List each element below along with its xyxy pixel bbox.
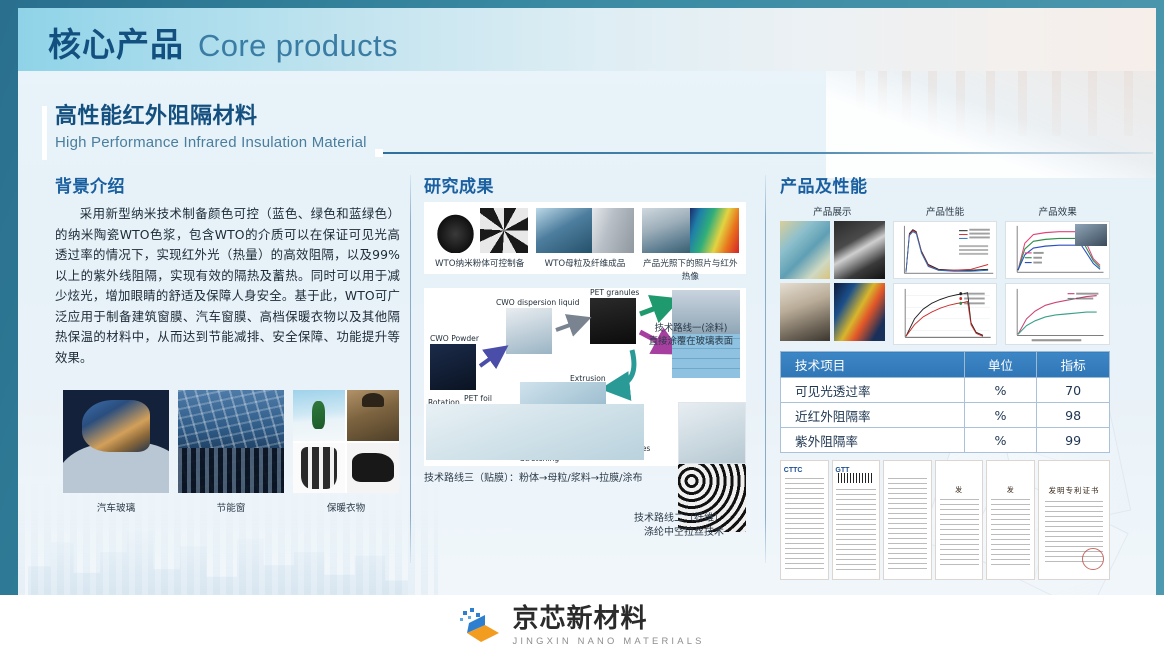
route-1-caption: 技术路线一(涂料) 直接涂覆在玻璃表面 <box>636 322 746 348</box>
product-head-showcase: 产品展示 <box>780 204 885 218</box>
performance-table-header-row: 技术项目 单位 指标 <box>781 352 1110 378</box>
research-caption-masterbatch: WTO母粒及纤维成品 <box>536 258 633 271</box>
section-accent-bar <box>42 106 47 160</box>
wto-nano-powder-photo <box>431 208 528 253</box>
flow-label-pet-foil: PET foil <box>464 394 492 403</box>
perf-row2-unit: % <box>964 428 1037 453</box>
product-showcase-group <box>780 221 885 345</box>
product-effect-temp-vs-time <box>1005 221 1110 279</box>
certificates-row: CTTC GTT 发 发 <box>780 460 1110 580</box>
header-title-group: 核心产品 Core products <box>48 18 398 66</box>
performance-header-item: 技术项目 <box>781 352 965 378</box>
official-seal-icon <box>1082 548 1104 570</box>
company-logo: 京芯新材料 JINGXIN NANO MATERIALS <box>459 606 704 645</box>
masterbatch-bags-photo <box>834 221 884 279</box>
logo-name-en: JINGXIN NANO MATERIALS <box>512 636 704 645</box>
research-caption-thermal: 产品光照下的照片与红外热像 <box>642 258 739 284</box>
section-rule <box>383 152 1153 154</box>
performance-table: 技术项目 单位 指标 可见光透过率 % 70 近红外阻隔率 % 98 <box>780 351 1110 453</box>
hollow-fiber-bag-photo <box>678 402 746 464</box>
perf-row2-value: 99 <box>1037 428 1110 453</box>
product-performance-temp-curve <box>893 221 998 279</box>
perf-row1-item: 近红外阻隔率 <box>781 403 965 428</box>
perf-row0-item: 可见光透过率 <box>781 378 965 403</box>
perf-row1-value: 98 <box>1037 403 1110 428</box>
patent-cert-3: 发明专利证书 <box>1038 460 1110 580</box>
product-performance-heat-curve <box>893 283 998 345</box>
column-research: 研究成果 WTO纳米粉体可控制备 WTO母粒及纤维成品 <box>424 172 754 204</box>
product-head-effect: 产品效果 <box>1005 204 1110 218</box>
cert-text-lines <box>785 478 824 570</box>
column-divider-left <box>410 175 411 563</box>
section-heading: 高性能红外阻隔材料 High Performance Infrared Insu… <box>55 103 367 153</box>
research-sample-masterbatch: WTO母粒及纤维成品 <box>536 208 633 284</box>
background-title: 背景介绍 <box>55 172 400 197</box>
route-2-caption: 技术路线二（纤维） 涤纶中空拉丝技术 <box>594 512 724 540</box>
application-caption-clothing: 保暖衣物 <box>293 502 399 515</box>
cert-text-lines <box>940 499 979 567</box>
table-row: 可见光透过率 % 70 <box>781 378 1110 403</box>
research-caption-powder: WTO纳米粉体可控制备 <box>431 258 528 271</box>
section-title-en: High Performance Infrared Insulation Mat… <box>55 133 367 153</box>
product-effect-group <box>1005 221 1110 345</box>
perf-row0-value: 70 <box>1037 378 1110 403</box>
cert-text-lines <box>991 499 1030 567</box>
research-sample-panel: WTO纳米粉体可控制备 WTO母粒及纤维成品 产品光照下的照片与红外热像 <box>424 202 746 274</box>
column-background: 背景介绍 采用新型纳米技术制备颜色可控（蓝色、绿色和蓝绿色）的纳米陶瓷WTO色浆… <box>55 172 400 368</box>
thermal-clothing-photo <box>293 390 399 493</box>
patent-title-2: 发 <box>987 485 1034 495</box>
table-row: 近红外阻隔率 % 98 <box>781 403 1110 428</box>
performance-header-unit: 单位 <box>964 352 1037 378</box>
column-divider-right <box>765 175 766 563</box>
header-title-cn: 核心产品 <box>48 18 184 66</box>
car-window-glass-photo <box>63 390 169 493</box>
application-item-clothing: 保暖衣物 <box>293 390 399 515</box>
test-report-cttc: CTTC <box>780 460 829 580</box>
product-title: 产品及性能 <box>780 172 1110 197</box>
header-title-en: Core products <box>198 28 398 64</box>
thermal-sleeve-demo-photo <box>780 283 830 341</box>
wto-masterbatch-fiber-photo <box>536 208 633 253</box>
research-sample-powder: WTO纳米粉体可控制备 <box>431 208 528 284</box>
slide-header: 核心产品 Core products <box>18 8 1156 71</box>
background-paragraph: 采用新型纳米技术制备颜色可控（蓝色、绿色和蓝绿色）的纳米陶瓷WTO色浆，包含WT… <box>55 204 400 368</box>
cttc-logo-label: CTTC <box>784 467 803 474</box>
product-media-grid <box>780 221 1110 345</box>
section-title-cn: 高性能红外阻隔材料 <box>55 103 367 131</box>
colored-film-samples-photo <box>780 221 830 279</box>
application-item-car: 汽车玻璃 <box>63 390 169 515</box>
barcode-icon <box>838 473 873 483</box>
test-report-gtt: GTT <box>832 460 881 580</box>
application-photo-row: 汽车玻璃 节能窗 保暖衣物 <box>63 390 399 515</box>
route-1-line1: 技术路线一(涂料) <box>636 322 746 335</box>
application-caption-window: 节能窗 <box>178 502 284 515</box>
winter-coat-photo <box>347 390 399 441</box>
table-row: 紫外阻隔率 % 99 <box>781 428 1110 453</box>
jingxin-logo-icon <box>459 607 503 645</box>
gloves-photo <box>347 443 399 494</box>
perf-row2-item: 紫外阻隔率 <box>781 428 965 453</box>
route-2-line2: 涤纶中空拉丝技术 <box>594 526 724 540</box>
product-ir-thermal-photo <box>642 208 739 253</box>
ir-camera-screen-photo <box>834 283 884 341</box>
film-stretching-illustration <box>426 404 644 460</box>
perf-row0-unit: % <box>964 378 1037 403</box>
slide-frame: 核心产品 Core products 高性能红外阻隔材料 High Perfor… <box>0 0 1164 657</box>
slide-footer: 京芯新材料 JINGXIN NANO MATERIALS <box>0 595 1164 657</box>
patent-cert-2: 发 <box>986 460 1035 580</box>
perf-row1-unit: % <box>964 403 1037 428</box>
research-title: 研究成果 <box>424 172 754 197</box>
leg-warmers-photo <box>293 443 345 494</box>
research-sample-thermal: 产品光照下的照片与红外热像 <box>642 208 739 284</box>
irradiation-time-curve <box>1005 283 1110 345</box>
product-column-heads: 产品展示 产品性能 产品效果 <box>780 204 1110 218</box>
route-2-line1: 技术路线二（纤维） <box>594 512 724 526</box>
test-report-3 <box>883 460 932 580</box>
application-item-window: 节能窗 <box>178 390 284 515</box>
cert-text-lines <box>836 489 875 569</box>
slide-root: 核心产品 Core products 高性能红外阻隔材料 High Perfor… <box>0 0 1164 657</box>
route-1-line2: 直接涂覆在玻璃表面 <box>636 335 746 348</box>
application-caption-car: 汽车玻璃 <box>63 502 169 515</box>
patent-title-3: 发明专利证书 <box>1039 485 1109 496</box>
product-performance-group <box>893 221 998 345</box>
cert-text-lines <box>888 478 927 570</box>
column-product: 产品及性能 产品展示 产品性能 产品效果 <box>780 172 1110 580</box>
product-head-performance: 产品性能 <box>893 204 998 218</box>
product-showcase-photos <box>780 221 885 341</box>
performance-header-value: 指标 <box>1037 352 1110 378</box>
patent-cert-1: 发 <box>935 460 984 580</box>
energy-saving-window-photo <box>178 390 284 493</box>
ski-suit-photo <box>293 390 345 441</box>
vehicle-test-photo <box>1075 224 1107 246</box>
logo-name-cn: 京芯新材料 <box>512 606 704 632</box>
logo-text-group: 京芯新材料 JINGXIN NANO MATERIALS <box>512 606 704 645</box>
patent-title-1: 发 <box>936 485 983 495</box>
